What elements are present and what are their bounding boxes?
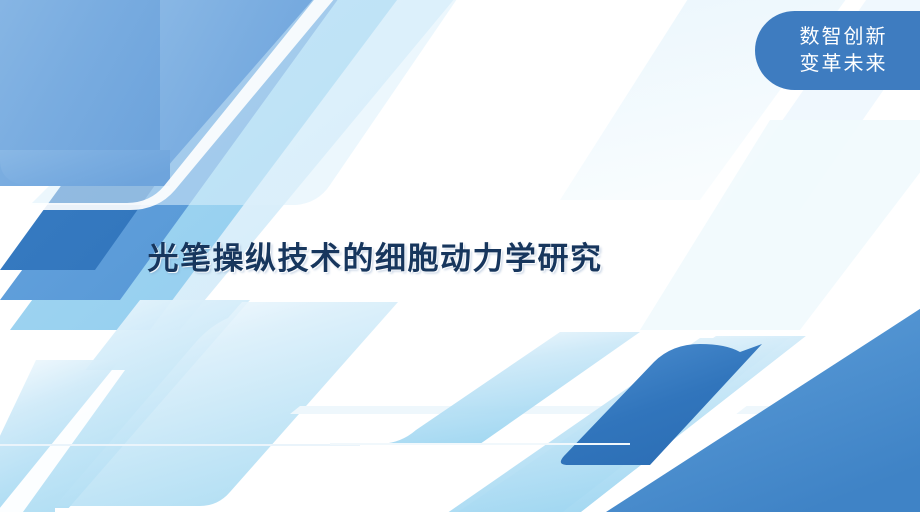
lower-guide-line (0, 444, 360, 446)
lower-guide-line-2 (330, 443, 630, 445)
bottom-white-strip (0, 512, 920, 518)
badge-slogan: 数智创新 变革未来 (755, 11, 920, 90)
badge-line-2: 变革未来 (800, 51, 888, 78)
badge-line-1: 数智创新 (800, 24, 888, 51)
page-title: 光笔操纵技术的细胞动力学研究 (0, 233, 750, 278)
presentation-slide: 数智创新 变革未来 光笔操纵技术的细胞动力学研究 (0, 0, 920, 518)
